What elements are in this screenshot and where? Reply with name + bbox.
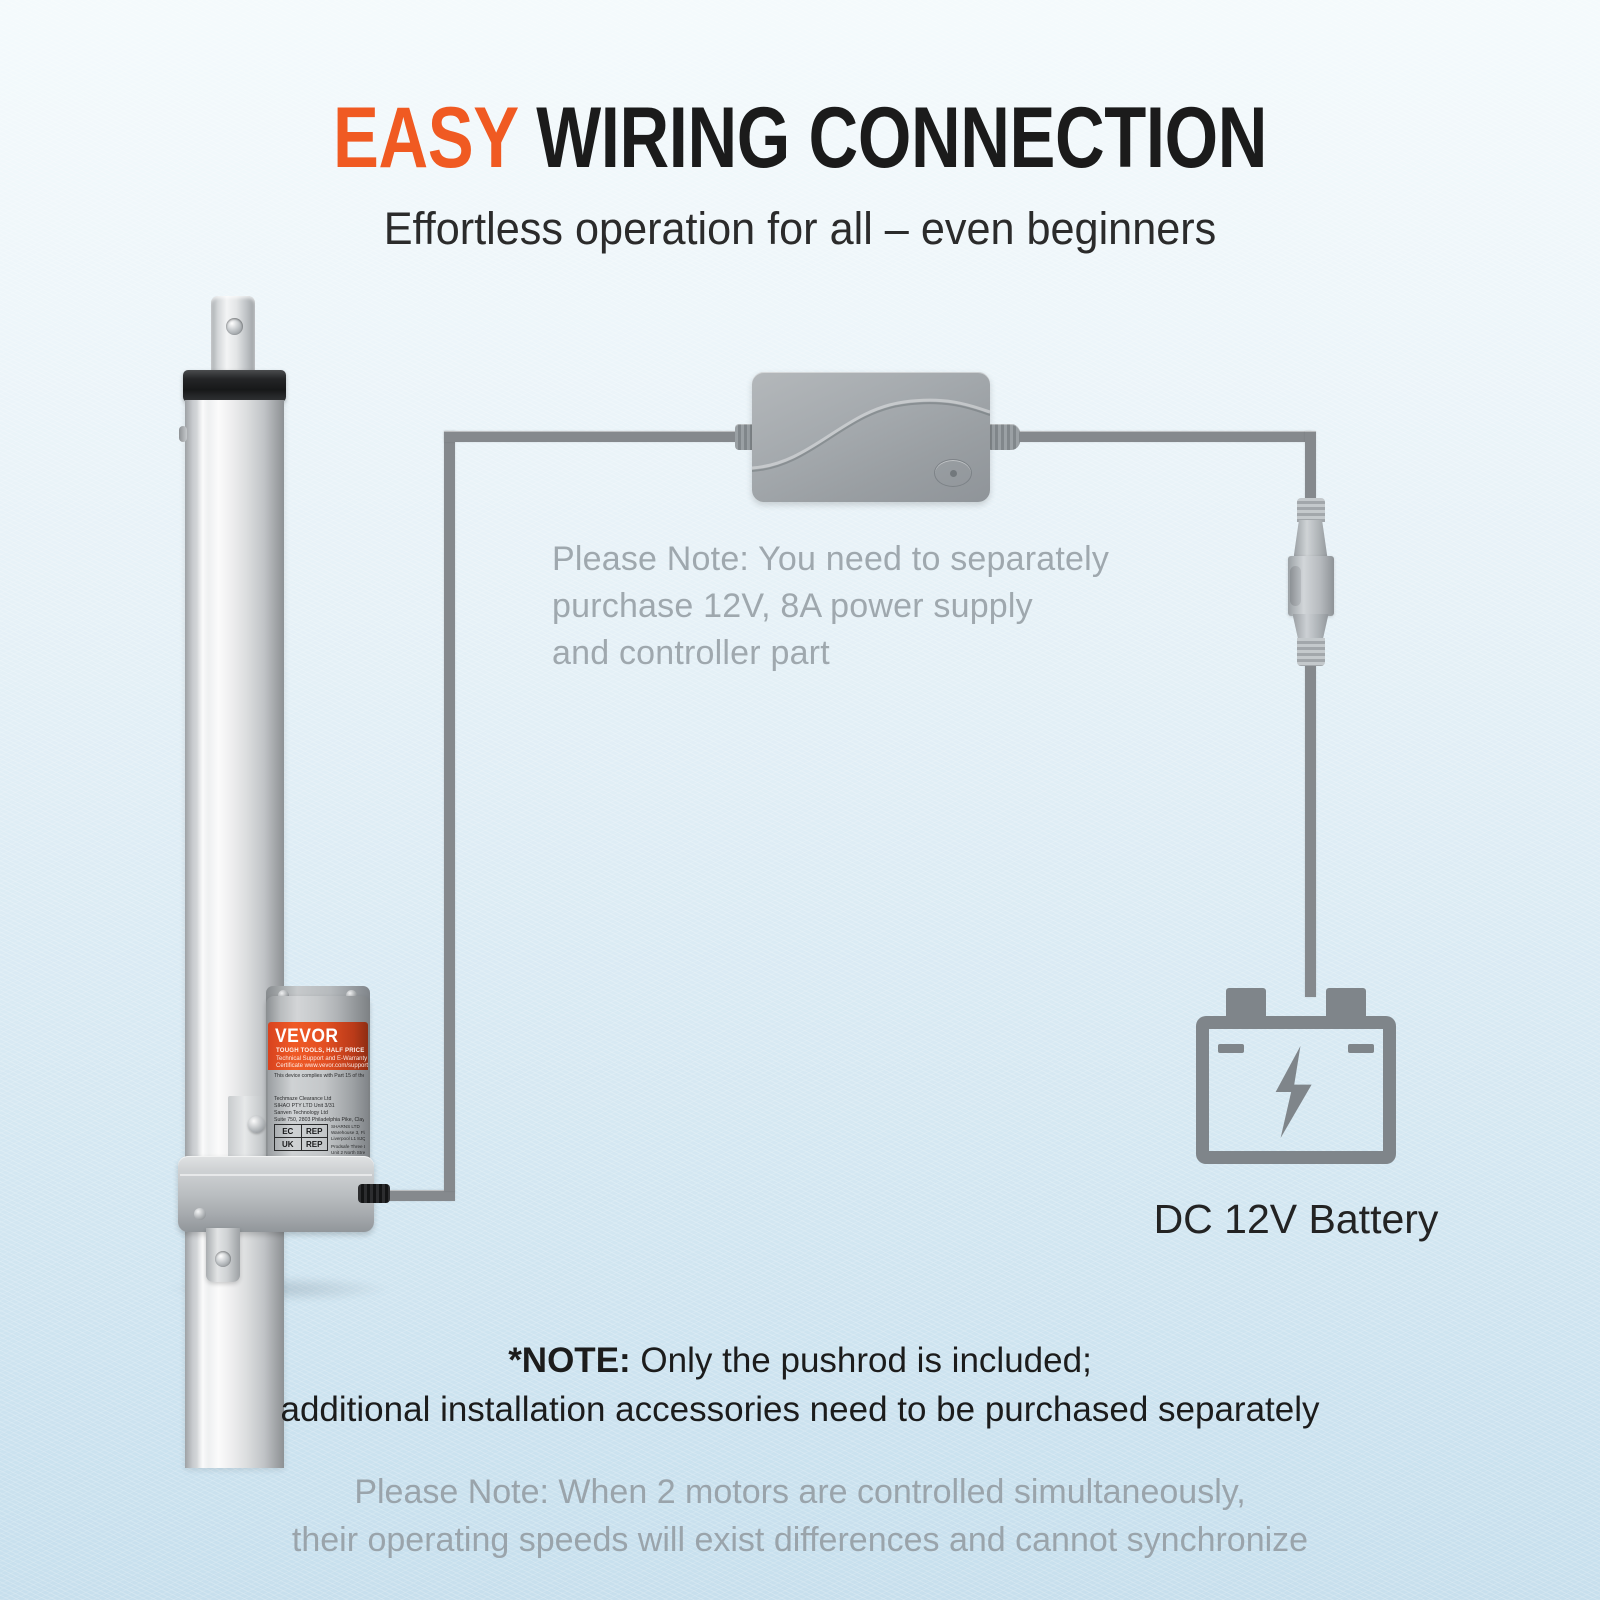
inline-note-line-2: purchase 12V, 8A power supply <box>552 583 1232 630</box>
connector-bottom-ribs <box>1297 638 1325 666</box>
wire-connector-lower-vertical <box>1305 652 1316 997</box>
inline-note-line-3: and controller part <box>552 630 1232 677</box>
power-led-indicator <box>934 459 972 487</box>
gray-note-line-2: their operating speeds will exist differ… <box>0 1516 1600 1564</box>
wire-top-right-horizontal <box>1014 431 1311 442</box>
connector-body <box>1288 556 1334 616</box>
battery-dash-right <box>1348 1044 1374 1053</box>
clevis-mounting-hole <box>215 1251 231 1267</box>
bracket-screw <box>248 1116 265 1133</box>
inline-purchase-note: Please Note: You need to separately purc… <box>552 536 1232 677</box>
psu-output-strain-relief <box>986 424 1020 450</box>
connector-top-taper <box>1294 520 1328 558</box>
actuator-push-rod <box>211 296 255 378</box>
tube-highlight <box>197 400 209 1468</box>
tube-side-nub <box>179 426 187 442</box>
vevor-tagline: TOUGH TOOLS, HALF PRICE <box>276 1047 364 1054</box>
rep-table: EC REP UK REP <box>274 1124 328 1151</box>
rubber-collar <box>183 370 286 402</box>
vevor-brand-text: VEVOR <box>275 1026 339 1048</box>
connector-top-ribs <box>1297 498 1325 522</box>
poster-canvas: EASY WIRING CONNECTION Effortless operat… <box>0 0 1600 1600</box>
inline-note-line-1: Please Note: You need to separately <box>552 536 1232 583</box>
wire-top-left-horizontal <box>444 431 744 442</box>
page-title: EASY WIRING CONNECTION <box>160 92 1440 184</box>
gray-note-line-1: Please Note: When 2 motors are controlle… <box>0 1468 1600 1516</box>
label-import-usa-line-2: Suite 750, 2803 Philadelphia Pike, Claym… <box>274 1117 364 1123</box>
label-address-line: Techmaze Clearance Ltd <box>274 1096 364 1102</box>
label-compliance-text: This device complies with Part 15 of the… <box>274 1073 364 1079</box>
bottom-note-primary: *NOTE: Only the pushrod is included; add… <box>0 1336 1600 1434</box>
gearbox-housing <box>178 1156 374 1232</box>
label-import-usa-line: Sanven Technology Ltd <box>274 1110 364 1116</box>
bottom-note-line-2: additional installation accessories need… <box>0 1385 1600 1434</box>
dc-barrel-connector[interactable] <box>1286 498 1335 666</box>
label-import-aus-line: SIHAO PTY LTD Unit 3/31 <box>274 1103 364 1109</box>
rod-mounting-hole <box>226 318 243 335</box>
title-accent-word: EASY <box>333 90 518 186</box>
rep-ec-cell: EC <box>275 1125 302 1138</box>
rep-uk-cell: UK <box>275 1138 302 1151</box>
rep-side-line-3: Liverpool L1 8JQ UK <box>331 1136 365 1142</box>
rep-uk-rep-cell: REP <box>301 1138 328 1151</box>
bottom-note-secondary: Please Note: When 2 motors are controlle… <box>0 1468 1600 1564</box>
title-main-words: WIRING CONNECTION <box>536 90 1267 186</box>
wire-left-vertical <box>444 431 455 1191</box>
linear-actuator: VEVOR TOUGH TOOLS, HALF PRICE Technical … <box>150 296 420 1296</box>
battery-caption: DC 12V Battery <box>1056 1196 1536 1243</box>
rep-row-uk: UK REP <box>275 1138 328 1151</box>
bottom-note-line-1: *NOTE: Only the pushrod is included; <box>0 1336 1600 1385</box>
rep-row-ec: EC REP <box>275 1125 328 1138</box>
gearbox-screw <box>194 1208 206 1220</box>
vevor-product-label: VEVOR TOUGH TOOLS, HALF PRICE Technical … <box>268 1022 368 1172</box>
power-supply-brick[interactable] <box>752 372 990 502</box>
battery-dash-left <box>1218 1044 1244 1053</box>
note-line-1-rest: Only the pushrod is included; <box>631 1341 1092 1380</box>
battery-icon <box>1196 988 1396 1164</box>
label-red-header: VEVOR TOUGH TOOLS, HALF PRICE Technical … <box>268 1022 368 1070</box>
gearbox-seam <box>180 1174 372 1176</box>
actuator-cable-strain-relief <box>358 1184 390 1203</box>
connector-bottom-taper <box>1293 614 1329 640</box>
note-prefix: *NOTE: <box>508 1341 631 1380</box>
rep-ec-rep-cell: REP <box>301 1125 328 1138</box>
page-subtitle: Effortless operation for all – even begi… <box>32 200 1568 258</box>
